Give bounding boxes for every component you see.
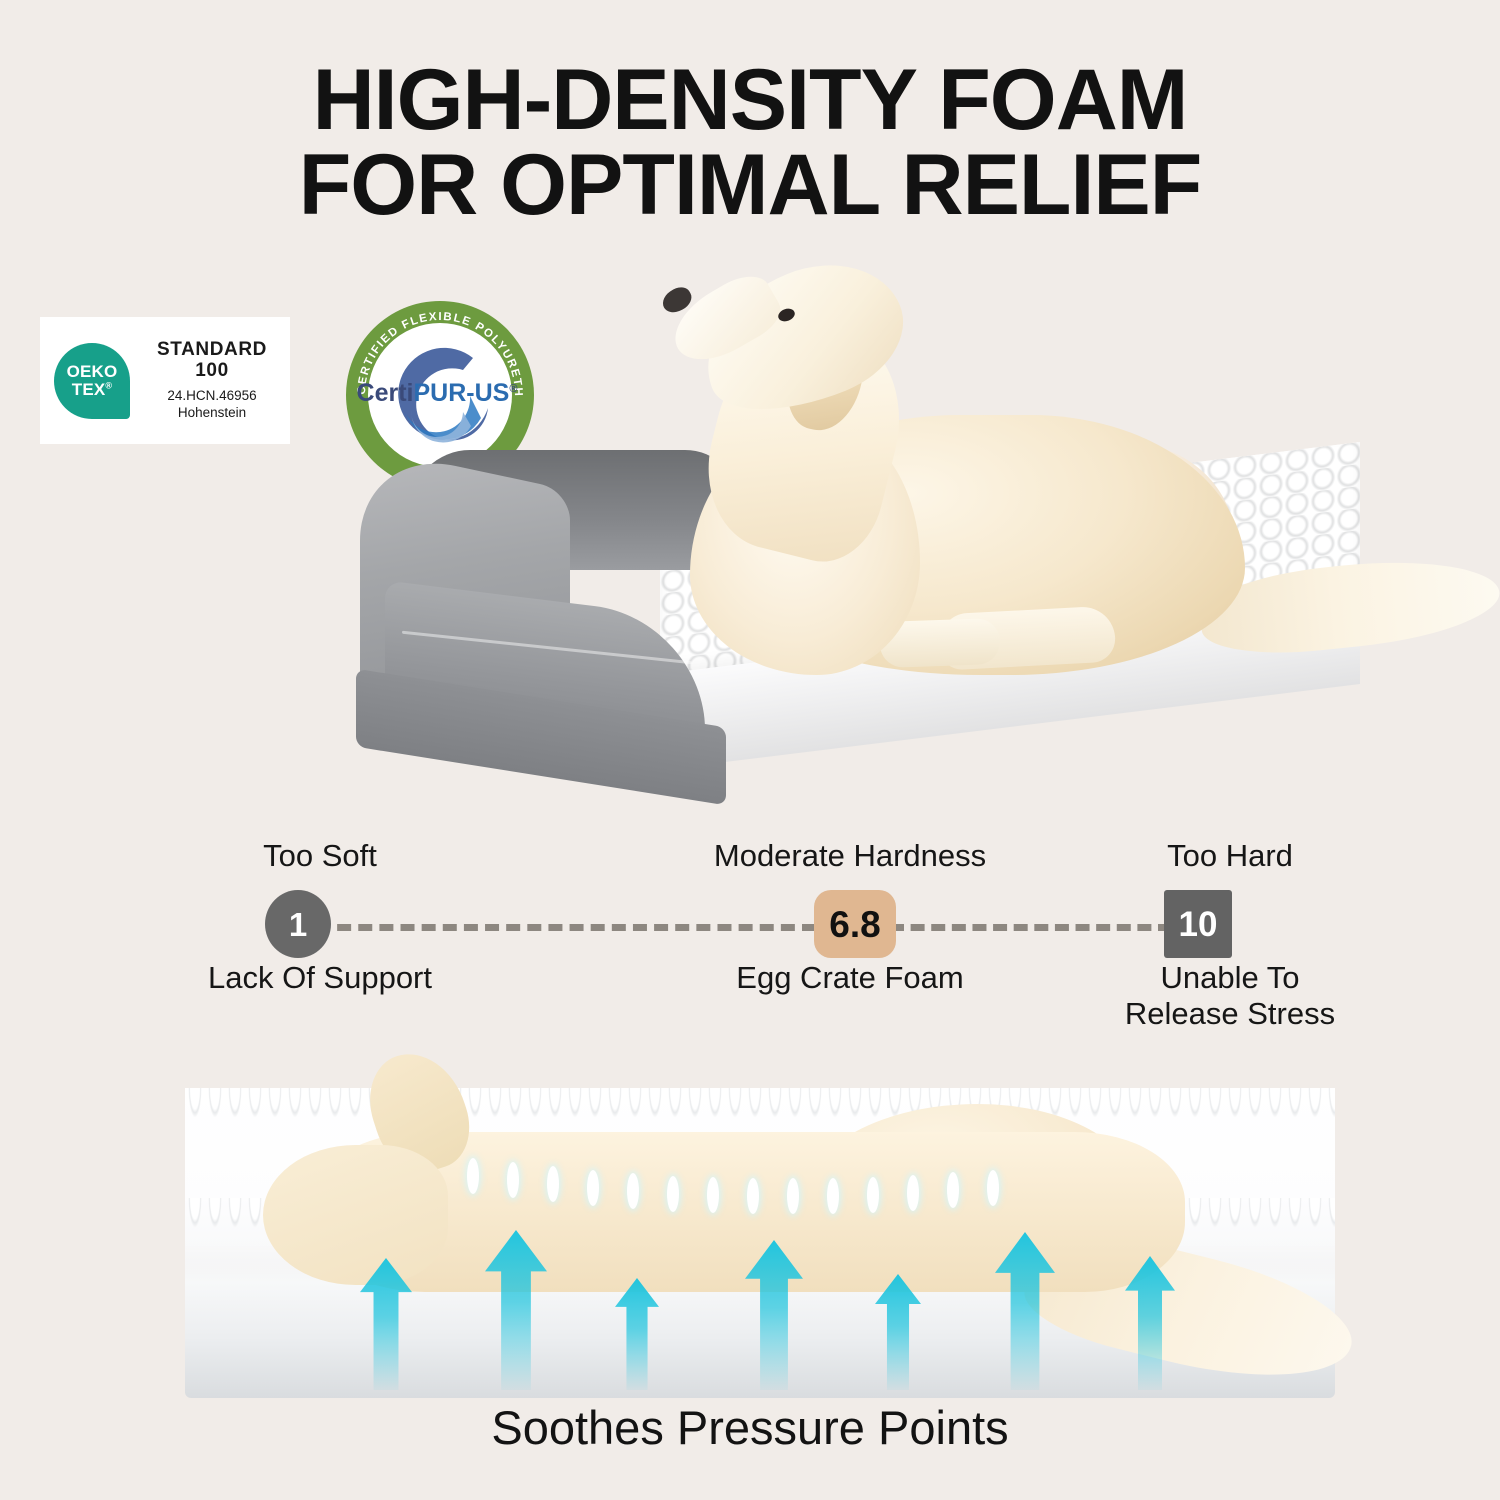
pressure-relief-arrow [485, 1230, 547, 1390]
caption-soothes-pressure-points: Soothes Pressure Points [0, 1400, 1500, 1455]
oeko-mark-line-2: TEX [72, 380, 106, 399]
hardness-label-too-hard: Too Hard [1075, 838, 1385, 874]
pressure-relief-arrow [745, 1240, 803, 1390]
hardness-dashed-line-right [890, 924, 1172, 931]
registered-symbol: ® [105, 380, 112, 390]
foam-hardness-scale: Too Soft Moderate Hardness Too Hard 1 6.… [0, 838, 1500, 1038]
pressure-relief-arrow [1125, 1256, 1175, 1390]
pressure-relief-arrow [360, 1258, 412, 1390]
hardness-sublabel-lack-of-support: Lack Of Support [160, 960, 480, 996]
pressure-relief-arrow [995, 1232, 1055, 1390]
pressure-relief-arrow [875, 1274, 921, 1390]
pressure-relief-arrow [615, 1278, 659, 1390]
hardness-top-labels: Too Soft Moderate Hardness Too Hard [0, 838, 1500, 884]
oeko-standard-line-1: STANDARD [142, 339, 282, 360]
oeko-tex-standard-100-badge: OEKO TEX® STANDARD 100 24.HCN.46956 Hohe… [40, 317, 290, 444]
hardness-bottom-labels: Lack Of Support Egg Crate Foam Unable To… [0, 960, 1500, 1040]
headline-line-1: HIGH-DENSITY FOAM [313, 52, 1188, 148]
hardness-label-too-soft: Too Soft [160, 838, 480, 874]
hardness-marker-1: 1 [265, 890, 331, 958]
hardness-dashed-line-left [316, 924, 816, 931]
pressure-relief-cross-section [185, 1040, 1335, 1385]
hardness-sublabel-c-line-2: Release Stress [1075, 996, 1385, 1032]
hardness-label-moderate: Moderate Hardness [620, 838, 1080, 874]
hardness-sublabel-egg-crate-foam: Egg Crate Foam [620, 960, 1080, 996]
dog-on-orthopedic-bed-photo [330, 255, 1360, 795]
labrador-dog-top [540, 265, 1330, 705]
oeko-institute: Hohenstein [142, 405, 282, 422]
page-title: HIGH-DENSITY FOAM FOR OPTIMAL RELIEF [0, 58, 1500, 228]
hardness-marker-10: 10 [1164, 890, 1232, 958]
headline-line-2: FOR OPTIMAL RELIEF [0, 143, 1500, 228]
oeko-tex-droplet-icon: OEKO TEX® [54, 343, 130, 419]
hardness-marker-6-8: 6.8 [814, 890, 896, 958]
hardness-sublabel-unable-to-release-stress: Unable To Release Stress [1075, 960, 1385, 1032]
oeko-mark-line-1: OEKO [67, 363, 118, 381]
oeko-standard-line-2: 100 [142, 360, 282, 381]
oeko-certificate-number: 24.HCN.46956 [142, 388, 282, 405]
hardness-sublabel-c-line-1: Unable To [1075, 960, 1385, 996]
pressure-relief-arrows [185, 1190, 1335, 1390]
hardness-track: 1 6.8 10 [0, 890, 1500, 960]
pressure-point-dot [467, 1158, 479, 1194]
